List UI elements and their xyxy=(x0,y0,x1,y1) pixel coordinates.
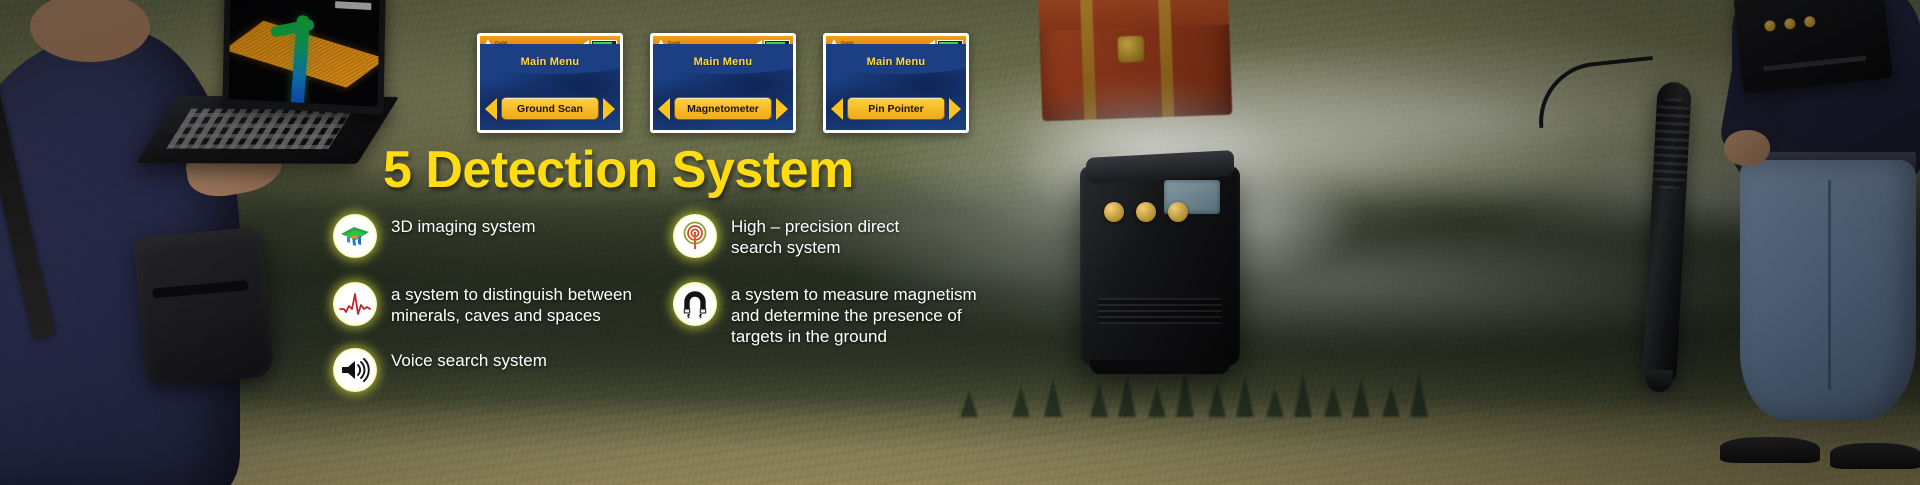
feature-label: 3D imaging system xyxy=(391,214,536,237)
feature-column-right: High – precision direct search system a … xyxy=(673,214,1093,361)
mode-selector: Magnetometer xyxy=(658,97,788,120)
feature-item-3d-imaging: 3D imaging system xyxy=(333,214,663,258)
screen-title: Main Menu xyxy=(826,56,966,68)
mode-label[interactable]: Pin Pointer xyxy=(847,97,945,120)
feature-item-high-precision-direct-search: High – precision direct search system xyxy=(673,214,1093,258)
feature-item-mineral-cave-distinguish: a system to distinguish between minerals… xyxy=(333,282,663,326)
feature-item-voice-search: Voice search system xyxy=(333,348,663,392)
mode-selector: Ground Scan xyxy=(485,97,615,120)
mode-label[interactable]: Ground Scan xyxy=(501,97,599,120)
mode-label[interactable]: Magnetometer xyxy=(674,97,772,120)
banner-headline: 5 Detection System xyxy=(383,140,854,200)
feature-column-left: 3D imaging system a system to distinguis… xyxy=(333,214,663,406)
horseshoe-magnet-icon xyxy=(673,282,717,326)
chevron-left-icon[interactable] xyxy=(485,98,497,120)
feature-item-magnetism-measurement: a system to measure magnetism and determ… xyxy=(673,282,1093,347)
chevron-right-icon[interactable] xyxy=(603,98,615,120)
chevron-left-icon[interactable] xyxy=(831,98,843,120)
screen-title: Main Menu xyxy=(653,56,793,68)
mode-selector: Pin Pointer xyxy=(831,97,961,120)
chevron-right-icon[interactable] xyxy=(949,98,961,120)
promotional-banner: Gold Main Menu Ground Scan Gold xyxy=(0,0,1920,485)
speaker-sound-icon xyxy=(333,348,377,392)
device-screen-magnetometer[interactable]: Gold Main Menu Magnetometer xyxy=(650,33,796,133)
3d-terrain-icon xyxy=(333,214,377,258)
feature-label: a system to measure magnetism and determ… xyxy=(731,282,977,347)
device-screen-pin-pointer[interactable]: Gold Main Menu Pin Pointer xyxy=(823,33,969,133)
device-screen-gallery: Gold Main Menu Ground Scan Gold xyxy=(477,33,969,133)
chevron-right-icon[interactable] xyxy=(776,98,788,120)
feature-label: High – precision direct search system xyxy=(731,214,899,258)
device-screen-ground-scan[interactable]: Gold Main Menu Ground Scan xyxy=(477,33,623,133)
chevron-left-icon[interactable] xyxy=(658,98,670,120)
antenna-signal-icon xyxy=(673,214,717,258)
feature-label: Voice search system xyxy=(391,348,547,371)
waveform-pulse-icon xyxy=(333,282,377,326)
feature-label: a system to distinguish between minerals… xyxy=(391,282,632,326)
screen-title: Main Menu xyxy=(480,56,620,68)
